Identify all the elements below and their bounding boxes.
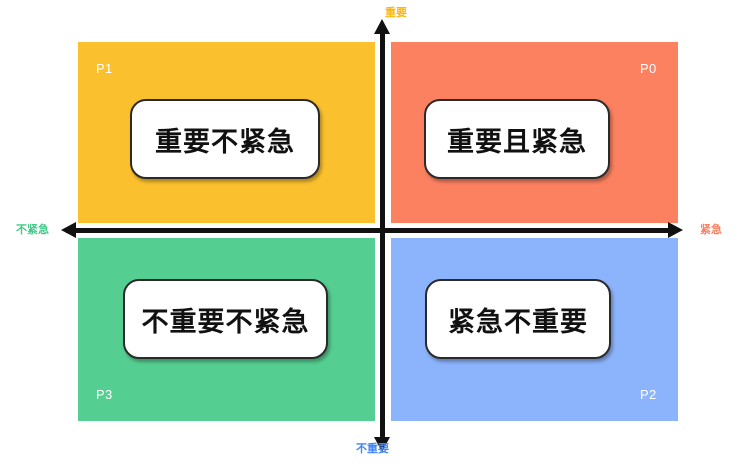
quadrant-code-p1: P1: [96, 62, 113, 75]
quadrant-label-box-p0: 重要且紧急: [424, 99, 610, 179]
axis-label-urgent: 紧急: [700, 224, 722, 235]
quadrant-label-box-p1: 重要不紧急: [130, 99, 320, 179]
quadrant-label-text-p1: 重要不紧急: [155, 120, 295, 159]
arrow-left-icon: [61, 222, 76, 238]
quadrant-code-p3: P3: [96, 388, 113, 401]
axis-label-not-important: 不重要: [356, 443, 389, 454]
quadrant-label-box-p2: 紧急不重要: [425, 279, 611, 359]
quadrant-code-p2: P2: [640, 388, 657, 401]
quadrant-label-text-p3: 不重要不紧急: [142, 300, 310, 339]
quadrant-diagram-canvas: P1 P0 P3 P2 重要 不重要 不紧急 紧急 重要不紧急 重要且紧急 不重…: [0, 0, 734, 470]
quadrant-label-box-p3: 不重要不紧急: [123, 279, 328, 359]
quadrant-code-p0: P0: [640, 62, 657, 75]
quadrant-label-text-p0: 重要且紧急: [447, 120, 587, 159]
arrow-right-icon: [668, 222, 683, 238]
axis-label-not-urgent: 不紧急: [16, 224, 49, 235]
arrow-up-icon: [374, 19, 390, 34]
quadrant-label-text-p2: 紧急不重要: [448, 300, 588, 339]
axis-label-important: 重要: [385, 7, 407, 18]
horizontal-axis-line: [66, 228, 668, 233]
vertical-axis-line: [380, 30, 385, 439]
